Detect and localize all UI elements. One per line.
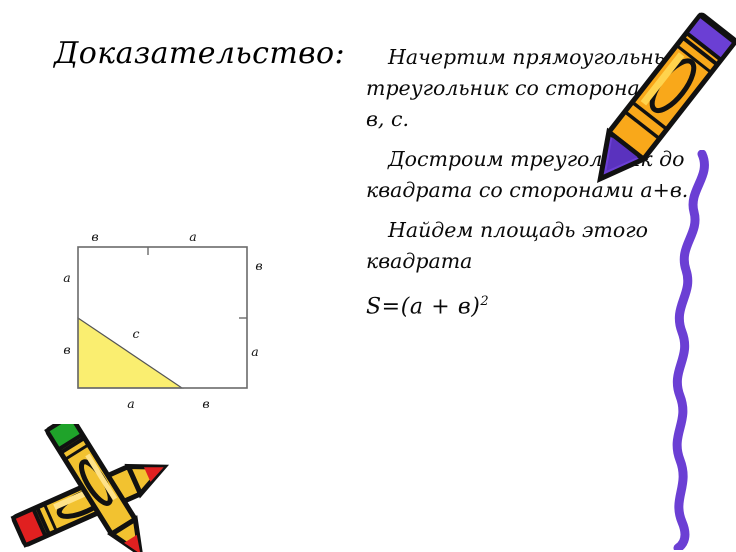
slide-canvas: Доказательство: Начертим прямоугольный т… — [0, 0, 736, 552]
two-crossed-crayons-icon — [2, 424, 206, 552]
label-bottom-right: в — [202, 396, 209, 411]
label-top-left: в — [91, 229, 98, 244]
label-left-upper: а — [63, 270, 70, 285]
label-top-right: а — [189, 229, 196, 244]
label-right-upper: в — [255, 258, 262, 273]
page-title: Доказательство: — [54, 36, 345, 71]
area-formula-exponent: 2 — [480, 294, 488, 309]
purple-crayon-squiggle — [660, 150, 736, 550]
paragraph-find-area: Найдем площадь этого квадрата — [366, 215, 696, 277]
right-triangle-shape — [78, 318, 182, 388]
label-left-lower: в — [63, 342, 70, 357]
area-formula-expression: S=(a + в) — [366, 294, 480, 319]
squiggle-stroke — [677, 154, 704, 548]
label-right-lower: а — [251, 344, 258, 359]
label-bottom-left: а — [127, 396, 134, 411]
label-hypotenuse: c — [132, 326, 139, 341]
geometry-figure: в а а в в а а в c — [46, 222, 286, 418]
area-formula: S=(a + в)2 — [366, 286, 696, 322]
